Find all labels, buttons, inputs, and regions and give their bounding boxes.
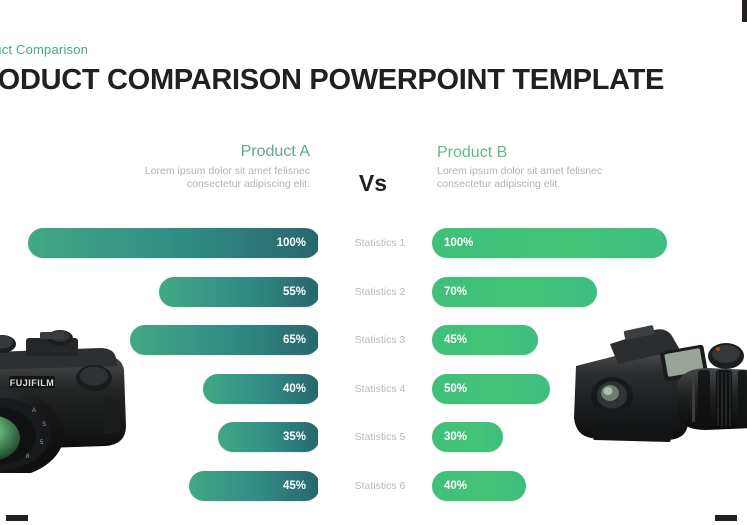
product-a-description: Lorem ipsum dolor sit amet felisnec cons… bbox=[120, 165, 310, 190]
product-b-title: Product B bbox=[437, 144, 637, 162]
corner-mark-top-right bbox=[742, 0, 747, 22]
product-a-title: Product A bbox=[140, 143, 310, 161]
vs-label: Vs bbox=[340, 170, 406, 197]
statistics-label: Statistics 4 bbox=[330, 374, 430, 404]
svg-text:A: A bbox=[32, 408, 36, 414]
slide-canvas: Product Comparison PRODUCT COMPARISON PO… bbox=[0, 0, 747, 525]
dslr-camera-photo bbox=[558, 300, 747, 450]
statistics-label: Statistics 5 bbox=[330, 422, 430, 452]
statistics-label: Statistics 1 bbox=[330, 228, 430, 258]
mirrorless-camera-photo: FUJIFILM A S 5 8 bbox=[0, 308, 150, 473]
statistics-label: Statistics 6 bbox=[330, 471, 430, 501]
page-title: PRODUCT COMPARISON POWERPOINT TEMPLATE bbox=[0, 64, 664, 97]
statistics-label-row: Statistics 6 bbox=[0, 471, 747, 501]
statistics-label: Statistics 2 bbox=[330, 277, 430, 307]
product-b-description: Lorem ipsum dolor sit amet felisnec cons… bbox=[437, 165, 617, 190]
slide-eyebrow: Product Comparison bbox=[0, 42, 88, 57]
svg-text:FUJIFILM: FUJIFILM bbox=[10, 378, 55, 388]
svg-text:S: S bbox=[42, 422, 46, 428]
statistics-label: Statistics 3 bbox=[330, 325, 430, 355]
statistics-label-row: Statistics 1 bbox=[0, 228, 747, 258]
